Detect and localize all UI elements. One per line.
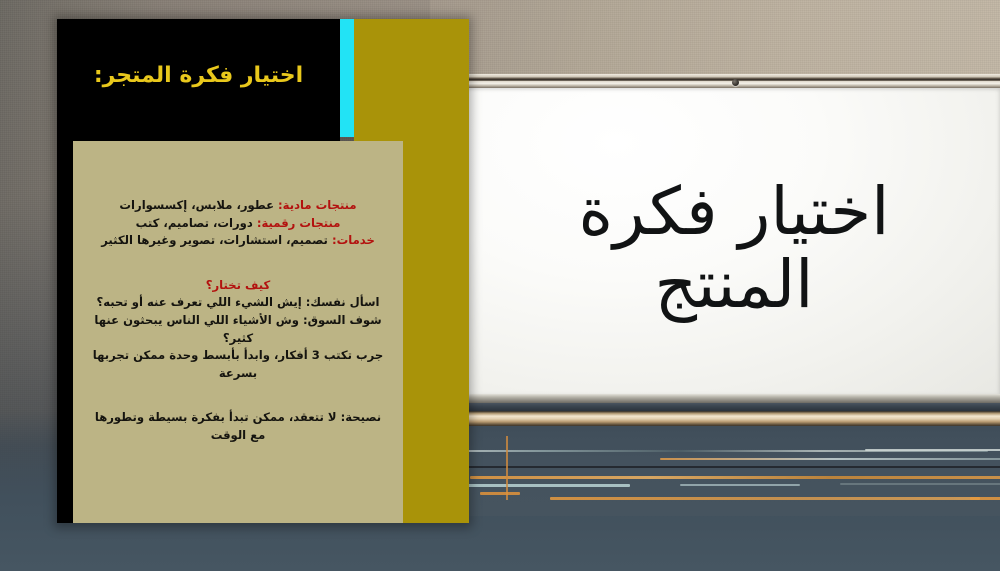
whiteboard-bottom-shadow <box>468 403 1000 411</box>
poster-body: منتجات مادية: عطور، ملابس، إكسسوارات منت… <box>73 141 403 523</box>
section-label-physical: منتجات مادية: <box>278 198 357 212</box>
whiteboard-surface: اختيار فكرة المنتج <box>468 88 1000 394</box>
how-heading: كيف تختار؟ <box>91 277 385 295</box>
how-item: اسأل نفسك: إيش الشيء اللي تعرف عنه أو تح… <box>91 294 385 312</box>
poster-section-row: خدمات: تصميم، استشارات، تصوير وغيرها الك… <box>91 232 385 250</box>
section-label-services: خدمات: <box>332 233 375 247</box>
whiteboard: اختيار فكرة المنتج <box>468 74 1000 426</box>
how-item: جرب تكتب 3 أفكار، وابدأ بأبسط وحدة ممكن … <box>91 347 385 382</box>
whiteboard-marker-tray <box>468 411 1000 426</box>
section-text-services: تصميم، استشارات، تصوير وغيرها الكثير <box>101 233 332 247</box>
how-item: شوف السوق: وش الأشياء اللي الناس يبحثون … <box>91 312 385 347</box>
section-text-digital: دورات، تصاميم، كتب <box>136 216 257 230</box>
spacer <box>91 250 385 277</box>
mount-screw-icon <box>732 79 739 86</box>
poster: اختيار فكرة المتجر: منتجات مادية: عطور، … <box>57 19 469 523</box>
poster-section-row: منتجات مادية: عطور، ملابس، إكسسوارات <box>91 197 385 215</box>
slide-title: اختيار فكرة المنتج <box>468 88 1000 394</box>
section-label-digital: منتجات رقمية: <box>257 216 340 230</box>
poster-title: اختيار فكرة المتجر: <box>57 19 340 137</box>
poster-section-row: منتجات رقمية: دورات، تصاميم، كتب <box>91 215 385 233</box>
whiteboard-bottom-rail <box>468 394 1000 403</box>
section-text-physical: عطور، ملابس، إكسسوارات <box>119 198 278 212</box>
slide-title-line-2: المنتج <box>654 249 813 322</box>
screenshot-stage: اختيار فكرة المنتج اختيار فكرة المتجر: م… <box>0 0 1000 571</box>
desk-ledge <box>410 426 1000 516</box>
slide-title-line-1: اختيار فكرة <box>579 176 890 249</box>
poster-cyan-stripe <box>340 19 354 137</box>
poster-tip: نصيحة: لا تتعقد، ممكن تبدأ بفكرة بسيطة و… <box>91 409 385 444</box>
spacer <box>91 382 385 409</box>
